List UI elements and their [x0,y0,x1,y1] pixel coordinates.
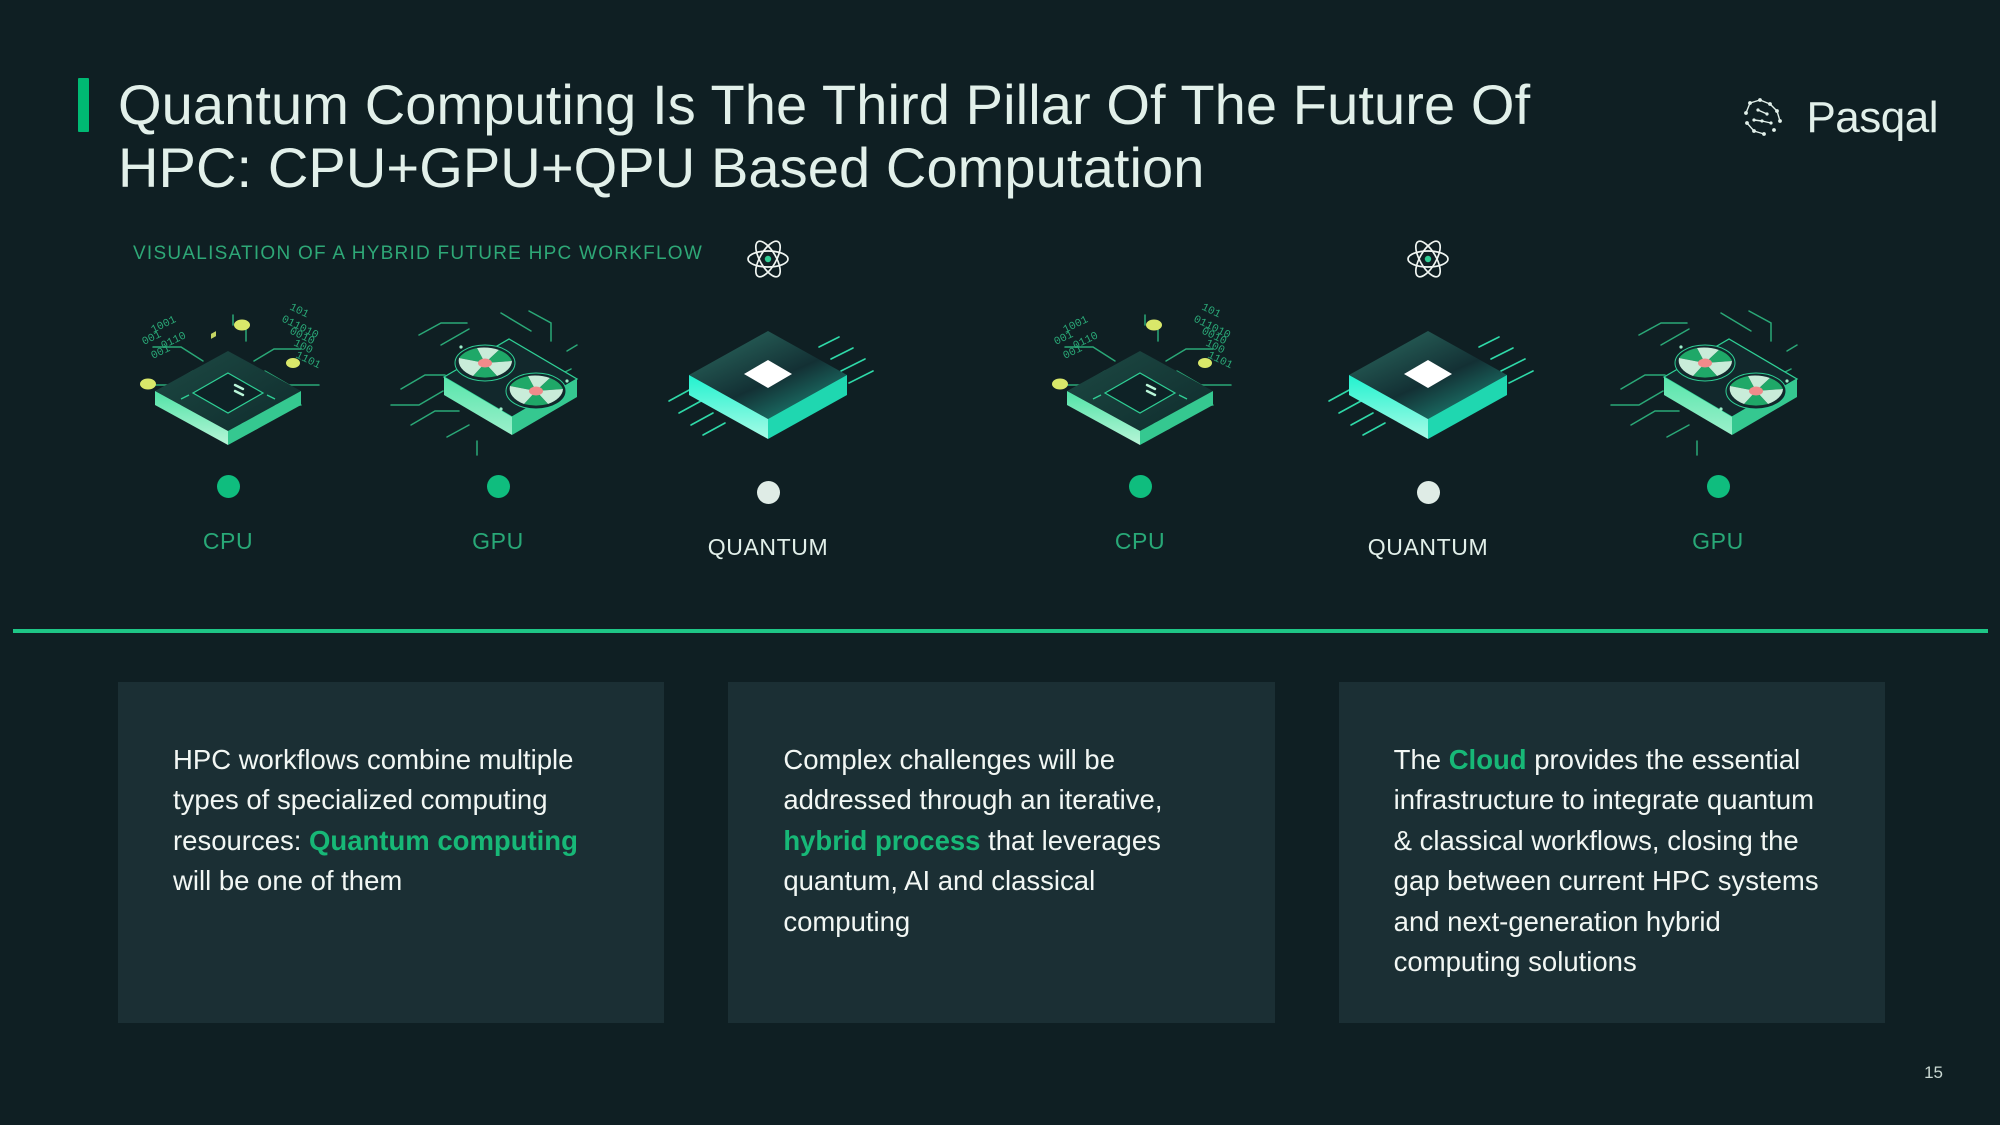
slide-root: Quantum Computing Is The Third Pillar Of… [0,0,2000,1125]
status-dot [1129,475,1152,498]
status-dot [1417,481,1440,504]
info-card-text: The Cloud provides the essential infrast… [1394,740,1835,983]
workflow-node-label: GPU [368,528,628,555]
card-highlight: hybrid process [783,825,980,856]
page-number: 15 [1924,1063,1943,1083]
cpu-chip-icon: 1001 001 0110 001 101 011010 0010 100 11… [1010,285,1270,475]
status-dot [1707,475,1730,498]
node-status-dot-wrap [1010,475,1270,507]
workflow-node-label: GPU [1588,528,1848,555]
card-highlight: Quantum computing [309,825,578,856]
workflow-node-label: CPU [1010,528,1270,555]
qpu-chip-icon [1298,285,1558,475]
atom-icon [638,235,898,283]
workflow-node-quantum-1[interactable]: QUANTUM [638,285,898,561]
info-card: HPC workflows combine multiple types of … [118,682,664,1023]
workflow-row: 1001 001 0110 001 101 011010 0010 100 11… [0,285,2000,615]
node-status-dot-wrap [1588,475,1848,507]
brand-logo: Pasqal [1736,90,1938,146]
page-subtitle: VISUALISATION OF A HYBRID FUTURE HPC WOR… [133,243,703,265]
status-dot [757,481,780,504]
status-dot [487,475,510,498]
info-card-text: Complex challenges will be addressed thr… [783,740,1224,942]
workflow-node-label: CPU [98,528,358,555]
gpu-card-icon [368,285,628,475]
workflow-node-label: QUANTUM [638,534,898,561]
card-highlight: Cloud [1449,744,1527,775]
card-segment: will be one of them [173,865,402,896]
node-status-dot-wrap [368,475,628,507]
page-title: Quantum Computing Is The Third Pillar Of… [118,74,1678,199]
gpu-card-icon [1588,285,1848,475]
card-segment: provides the essential infrastructure to… [1394,744,1819,977]
info-cards: HPC workflows combine multiple types of … [118,682,1885,1023]
workflow-node-cpu-2[interactable]: 1001 001 0110 001 101 011010 0010 100 11… [1010,285,1270,555]
workflow-node-label: QUANTUM [1298,534,1558,561]
info-card: The Cloud provides the essential infrast… [1339,682,1885,1023]
section-divider [13,629,1988,633]
brand-name: Pasqal [1806,96,1938,140]
card-segment: The [1394,744,1449,775]
workflow-node-gpu-2[interactable]: GPU [1588,285,1848,555]
cpu-chip-icon: 1001 001 0110 001 101 011010 0010 100 11… [98,285,358,475]
info-card-text: HPC workflows combine multiple types of … [173,740,614,902]
workflow-node-gpu-1[interactable]: GPU [368,285,628,555]
qpu-chip-icon [638,285,898,475]
info-card: Complex challenges will be addressed thr… [728,682,1274,1023]
pasqal-atoms-logo-icon [1736,90,1792,146]
node-status-dot-wrap [638,481,898,513]
atom-icon [1298,235,1558,283]
status-dot [217,475,240,498]
title-accent-bar [78,78,89,132]
card-segment: Complex challenges will be addressed thr… [783,744,1162,815]
workflow-node-quantum-2[interactable]: QUANTUM [1298,285,1558,561]
workflow-node-cpu-1[interactable]: 1001 001 0110 001 101 011010 0010 100 11… [98,285,358,555]
node-status-dot-wrap [98,475,358,507]
node-status-dot-wrap [1298,481,1558,513]
